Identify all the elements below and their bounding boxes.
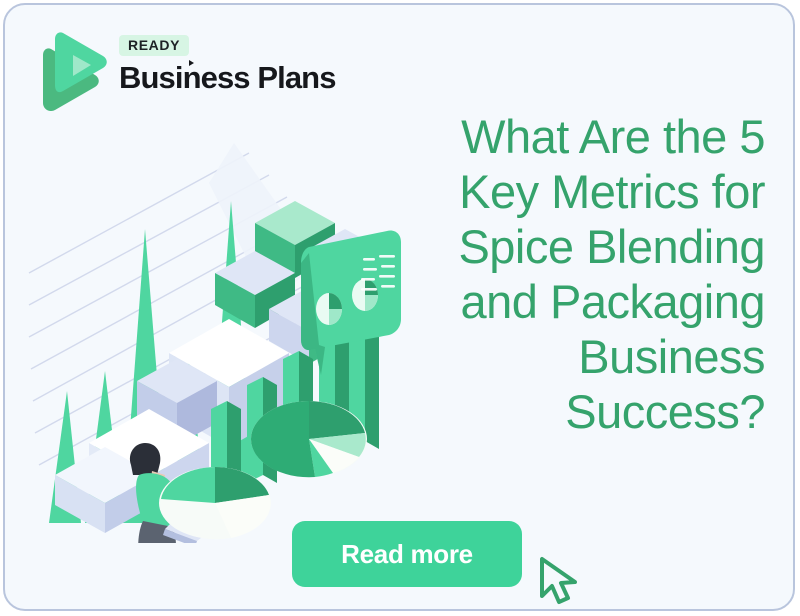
- brand-logo[interactable]: READY Business Plans: [33, 27, 333, 117]
- isometric-business-analytics-illustration: [19, 123, 419, 543]
- play-triangle-logo-icon: [33, 31, 107, 111]
- pie-chart-small: [159, 467, 271, 539]
- read-more-button[interactable]: Read more: [292, 521, 522, 587]
- logo-wordmark-group: READY Business Plans: [119, 35, 339, 95]
- mouse-pointer-arrow-icon: [535, 553, 589, 609]
- headline: What Are the 5 Key Metrics for Spice Ble…: [409, 109, 765, 439]
- brand-name-text: Business Plans: [119, 60, 336, 95]
- wordmark-triangle-accent-icon: [189, 60, 194, 66]
- ready-badge: READY: [119, 35, 189, 56]
- ad-banner: READY Business Plans What Are the 5 Key …: [3, 3, 795, 611]
- brand-name: Business Plans: [119, 62, 339, 95]
- pie-chart-large: [251, 401, 367, 477]
